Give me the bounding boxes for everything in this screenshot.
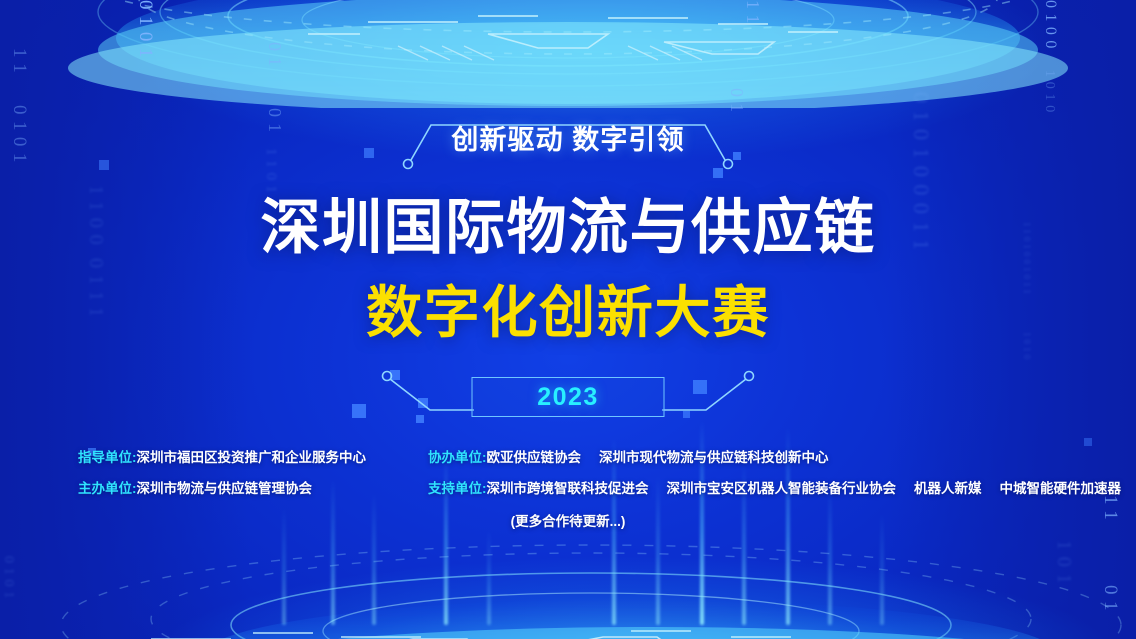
year-text: 2023	[537, 383, 599, 412]
credits-row: 主办单位:深圳市物流与供应链管理协会 支持单位:深圳市跨境智联科技促进会深圳市宝…	[0, 477, 1136, 508]
credit-value: 深圳市跨境智联科技促进会	[487, 481, 649, 496]
credit-label: 支持单位:	[428, 481, 487, 496]
credit-value: 深圳市物流与供应链管理协会	[137, 481, 313, 496]
poster-content: 创新驱动 数字引领 深圳国际物流与供应链 数字化创新大赛 2023	[0, 0, 1136, 639]
credit-value: 深圳市福田区投资推广和企业服务中心	[137, 450, 367, 465]
credits-row: 指导单位:深圳市福田区投资推广和企业服务中心 协办单位:欧亚供应链协会深圳市现代…	[0, 446, 1136, 477]
credit-value: 中城智能硬件加速器	[1000, 481, 1122, 496]
slogan-text: 创新驱动 数字引领	[425, 118, 710, 157]
credit-guidance: 指导单位:深圳市福田区投资推广和企业服务中心	[78, 446, 366, 466]
credit-label: 协办单位:	[428, 450, 487, 465]
credit-coorganizer: 协办单位:欧亚供应链协会深圳市现代物流与供应链科技创新中心	[428, 446, 829, 466]
credit-value: 深圳市宝安区机器人智能装备行业协会	[667, 481, 897, 496]
credit-value: 机器人新媒	[914, 481, 982, 496]
credit-organizer: 主办单位:深圳市物流与供应链管理协会	[78, 477, 312, 497]
credit-value: 欧亚供应链协会	[487, 450, 582, 465]
year-block: 2023	[0, 369, 1136, 423]
year-badge: 2023	[472, 377, 665, 417]
main-title-line2: 数字化创新大赛	[0, 283, 1136, 342]
poster-canvas: 1101010101110001110101110101110101000110…	[0, 0, 1136, 639]
slogan-block: 创新驱动 数字引领	[0, 118, 1136, 157]
credits-block: 指导单位:深圳市福田区投资推广和企业服务中心 协办单位:欧亚供应链协会深圳市现代…	[0, 446, 1136, 508]
more-partners-note: (更多合作待更新...)	[0, 510, 1136, 530]
credit-label: 指导单位:	[78, 450, 137, 465]
credit-value: 深圳市现代物流与供应链科技创新中心	[599, 450, 829, 465]
main-title-line1: 深圳国际物流与供应链	[0, 196, 1136, 260]
credit-supporter: 支持单位:深圳市跨境智联科技促进会深圳市宝安区机器人智能装备行业协会机器人新媒中…	[428, 477, 1121, 497]
credit-label: 主办单位:	[78, 481, 137, 496]
